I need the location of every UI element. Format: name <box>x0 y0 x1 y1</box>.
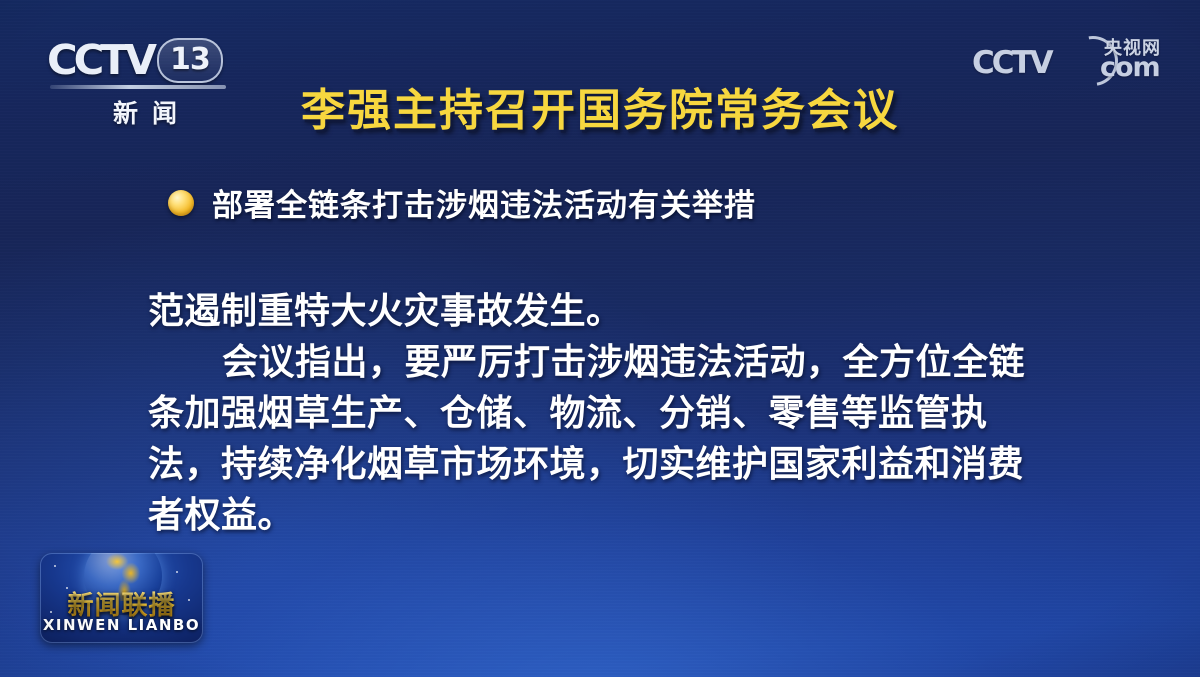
star-dot <box>54 565 56 567</box>
gold-dot-icon <box>168 190 194 216</box>
body-paragraph: 范遏制重特大火灾事故发生。 <box>148 286 1048 337</box>
cctv-com-domain-label: com <box>1100 54 1160 81</box>
xinwen-lianbo-logo: 新闻联播 XINWEN LIANBO <box>40 553 203 643</box>
channel-number: 13 <box>170 45 210 75</box>
star-dot <box>176 571 178 573</box>
cctv-com-wordmark: CCTV <box>972 48 1051 79</box>
page-title: 李强主持召开国务院常务会议 <box>0 86 1200 137</box>
subtitle-text: 部署全链条打击涉烟违法活动有关举措 <box>212 180 756 225</box>
cctv-com-watermark: CCTV 央视网 com <box>972 30 1162 88</box>
body-text: 范遏制重特大火灾事故发生。 会议指出，要严厉打击涉烟违法活动，全方位全链条加强烟… <box>148 286 1048 541</box>
broadcast-screen: CCTV 13 新闻 CCTV 央视网 com 李强主持召开国务院常务会议 部署… <box>0 0 1200 677</box>
cctv-13-logo-row: CCTV 13 <box>48 38 238 82</box>
subtitle-row: 部署全链条打击涉烟违法活动有关举措 <box>168 180 756 225</box>
cctv-wordmark: CCTV <box>47 40 153 81</box>
channel-number-badge: 13 <box>157 38 223 83</box>
body-paragraph: 会议指出，要严厉打击涉烟违法活动，全方位全链条加强烟草生产、仓储、物流、分销、零… <box>148 337 1048 541</box>
program-title-en: XINWEN LIANBO <box>40 616 203 634</box>
